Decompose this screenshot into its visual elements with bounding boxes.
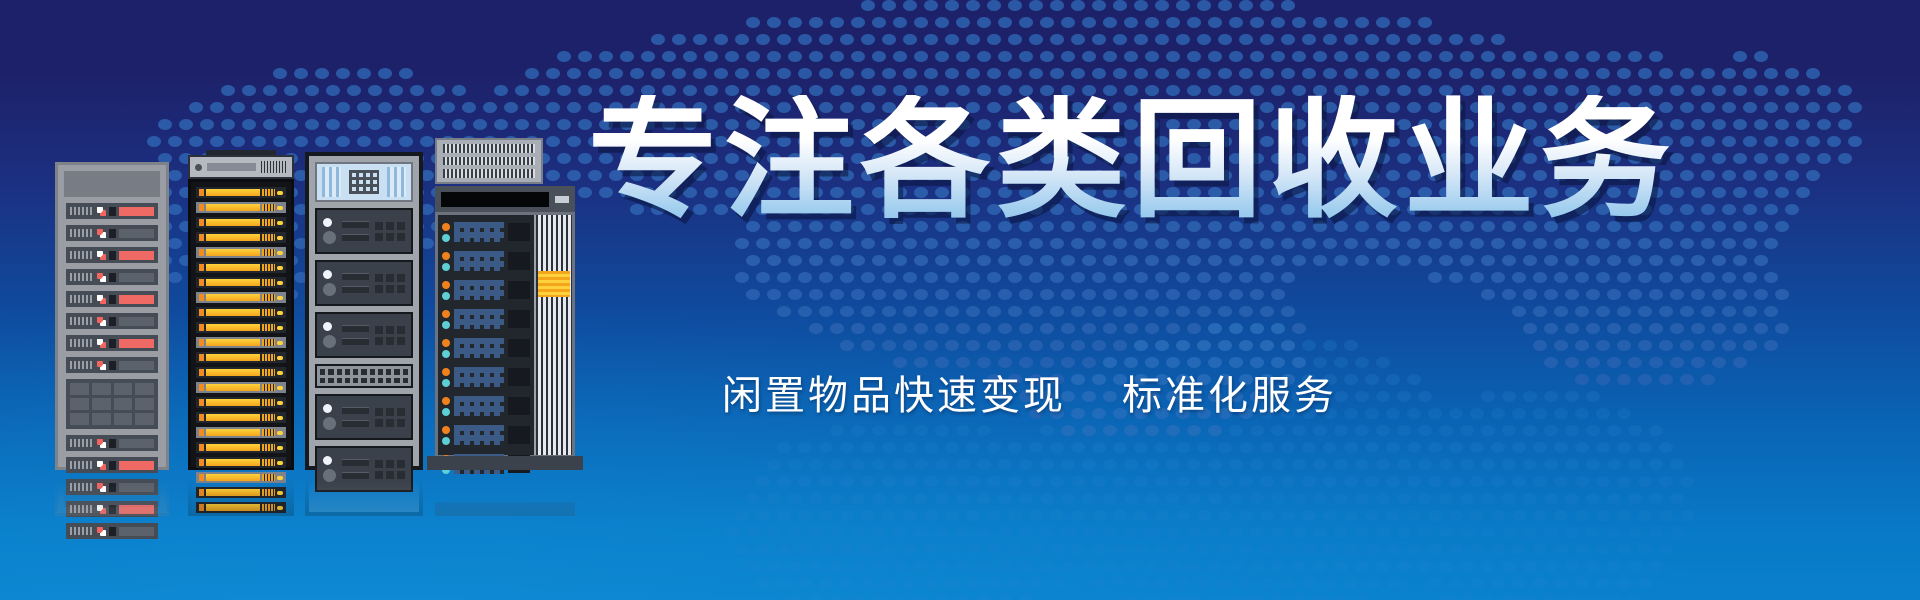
rack-d-blade-unit bbox=[442, 278, 530, 302]
rack-b-drive-unit bbox=[196, 337, 286, 348]
server-rack-d bbox=[435, 138, 575, 470]
server-rack-b bbox=[188, 150, 294, 470]
rack-d-blade-unit bbox=[442, 394, 530, 418]
server-rack-a bbox=[55, 162, 169, 470]
rack-d-barcode-panel bbox=[435, 138, 543, 184]
rack-a-server-unit bbox=[66, 269, 158, 285]
rack-b-drive-unit bbox=[196, 247, 286, 258]
rack-c-patch-panel bbox=[315, 364, 413, 388]
rack-b-drive-unit bbox=[196, 277, 286, 288]
rack-c-server-unit bbox=[315, 394, 413, 440]
rack-b-drive-unit bbox=[196, 262, 286, 273]
rack-b-drive-unit bbox=[196, 427, 286, 438]
banner-subtitle-1: 闲置物品快速变现 bbox=[722, 363, 1066, 421]
rack-b-power-knob-icon bbox=[195, 164, 202, 171]
rack-a-patch-panel bbox=[66, 379, 158, 429]
banner-subtitle-2: 标准化服务 bbox=[1122, 363, 1337, 421]
server-rack-c bbox=[305, 152, 423, 470]
banner-subtitle-group: 闲置物品快速变现 标准化服务 bbox=[722, 363, 1337, 421]
rack-b-head-panel bbox=[188, 155, 294, 179]
rack-d-display-band bbox=[435, 186, 575, 212]
rack-c-server-unit bbox=[315, 260, 413, 306]
rack-b-drive-unit bbox=[196, 442, 286, 453]
rack-a-server-unit bbox=[66, 335, 158, 351]
rack-d-blade-unit bbox=[442, 307, 530, 331]
rack-b-drive-unit bbox=[196, 202, 286, 213]
rack-c-server-unit bbox=[315, 208, 413, 254]
rack-a-server-unit bbox=[66, 357, 158, 373]
rack-d-blade-unit bbox=[442, 365, 530, 389]
rack-b-drive-unit bbox=[196, 307, 286, 318]
rack-b-drive-unit bbox=[196, 412, 286, 423]
rack-b-drive-unit bbox=[196, 382, 286, 393]
rack-d-side-vent bbox=[536, 215, 572, 455]
rack-b-drive-unit bbox=[196, 457, 286, 468]
rack-a-server-unit bbox=[66, 225, 158, 241]
rack-a-server-unit bbox=[66, 203, 158, 219]
rack-b-drive-unit bbox=[196, 187, 286, 198]
rack-d-reflection bbox=[435, 470, 575, 516]
rack-b-drive-unit bbox=[196, 352, 286, 363]
rack-a-reflection bbox=[55, 470, 169, 516]
rack-b-drive-unit bbox=[196, 367, 286, 378]
rack-d-base bbox=[427, 456, 583, 470]
rack-b-drive-unit bbox=[196, 292, 286, 303]
rack-a-server-unit bbox=[66, 291, 158, 307]
rack-c-reflection bbox=[305, 470, 423, 516]
rack-b-drive-unit bbox=[196, 322, 286, 333]
banner-headline: 专注各类回收业务 bbox=[588, 95, 1676, 225]
rack-a-server-unit bbox=[66, 435, 158, 451]
rack-b-reflection bbox=[188, 470, 294, 516]
rack-b-drive-unit bbox=[196, 397, 286, 408]
barcode-icon bbox=[261, 161, 287, 173]
rack-a-server-unit bbox=[66, 313, 158, 329]
rack-a-server-unit bbox=[66, 523, 158, 539]
rack-a-server-unit bbox=[66, 247, 158, 263]
rack-d-blade-unit bbox=[442, 249, 530, 273]
rack-d-blade-unit bbox=[442, 336, 530, 360]
rack-a-top-panel bbox=[64, 171, 160, 197]
hero-banner: 专注各类回收业务 闲置物品快速变现 标准化服务 bbox=[0, 0, 1920, 600]
rack-c-air-vent bbox=[315, 162, 413, 202]
server-rack-illustration bbox=[55, 140, 575, 470]
rack-d-blade-unit bbox=[442, 220, 530, 244]
rack-b-drive-unit bbox=[196, 217, 286, 228]
rack-d-blade-unit bbox=[442, 423, 530, 447]
rack-c-server-unit bbox=[315, 312, 413, 358]
rack-b-drive-unit bbox=[196, 232, 286, 243]
